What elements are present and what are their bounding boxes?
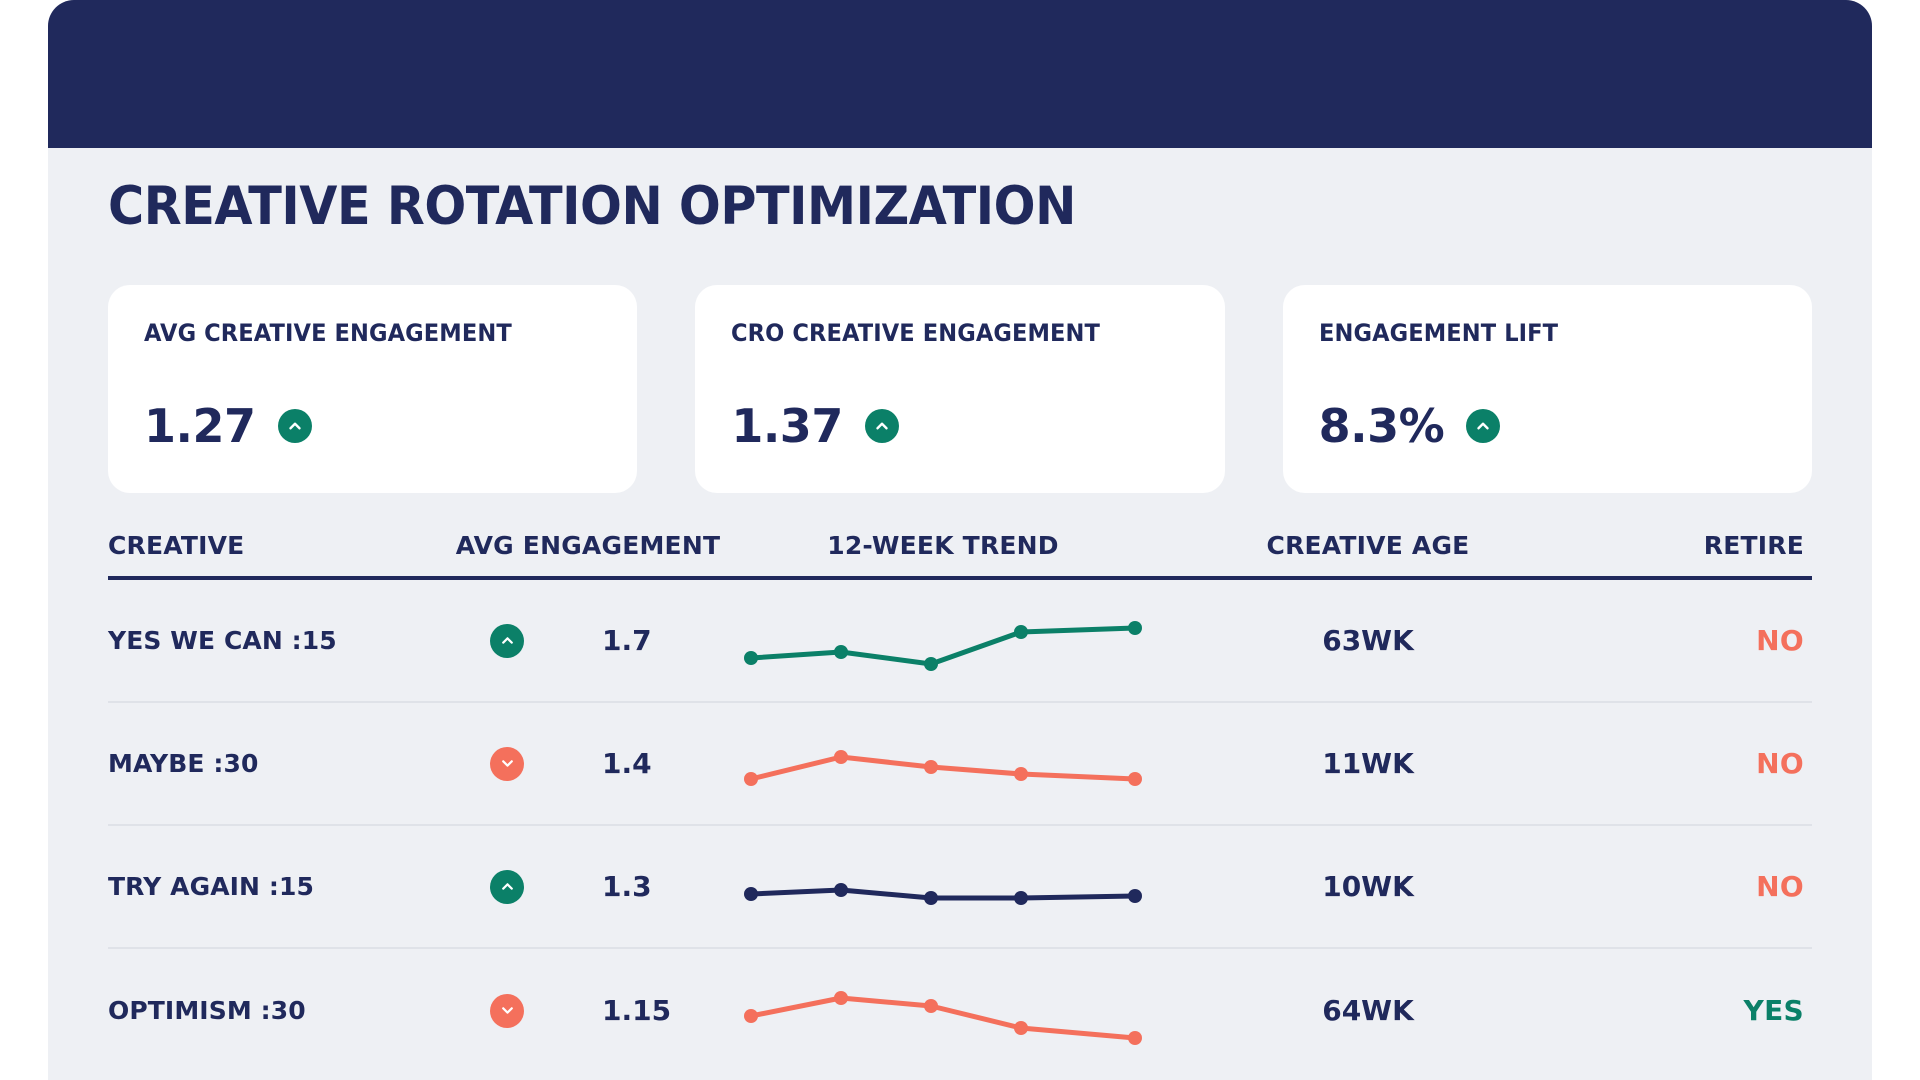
creative-age-value: 10WK (1158, 870, 1578, 903)
sparkline-chart (743, 729, 1143, 799)
table-row[interactable]: TRY AGAIN :15 1.3 (108, 826, 1812, 949)
sparkline-chart (743, 606, 1143, 676)
table-row[interactable]: MAYBE :30 1.4 (108, 703, 1812, 826)
chevron-up-icon (490, 624, 524, 658)
kpi-value-row: 8.3% (1319, 403, 1776, 459)
column-header-avg-engagement: AVG ENGAGEMENT (448, 531, 728, 560)
creative-rotation-table: CREATIVE AVG ENGAGEMENT 12-WEEK TREND CR… (108, 531, 1812, 1072)
column-header-12-week-trend: 12-WEEK TREND (728, 531, 1158, 560)
dashboard-content: CREATIVE ROTATION OPTIMIZATION AVG CREAT… (48, 148, 1872, 1080)
trend-sparkline-cell (728, 852, 1158, 922)
creative-age-value: 64WK (1158, 994, 1578, 1027)
avg-engagement-value: 1.4 (602, 747, 652, 780)
sparkline-chart (743, 976, 1143, 1046)
kpi-card-avg-creative-engagement[interactable]: AVG CREATIVE ENGAGEMENT 1.27 (108, 285, 637, 493)
avg-engagement-cell: 1.3 (448, 870, 728, 904)
creative-age-value: 11WK (1158, 747, 1578, 780)
trend-sparkline-cell (728, 606, 1158, 676)
creative-name: MAYBE :30 (108, 749, 448, 778)
chevron-down-icon (490, 747, 524, 781)
kpi-label: CRO CREATIVE ENGAGEMENT (731, 319, 1161, 347)
retire-status: NO (1578, 624, 1812, 657)
avg-engagement-cell: 1.7 (448, 624, 728, 658)
column-header-retire: RETIRE (1578, 531, 1812, 560)
retire-status: YES (1578, 994, 1812, 1027)
retire-status: NO (1578, 870, 1812, 903)
retire-status: NO (1578, 747, 1812, 780)
avg-engagement-value: 1.15 (602, 994, 671, 1027)
chevron-up-icon (1466, 409, 1500, 443)
chevron-down-icon (490, 994, 524, 1028)
sparkline-chart (743, 852, 1143, 922)
avg-engagement-cell: 1.4 (448, 747, 728, 781)
kpi-label: AVG CREATIVE ENGAGEMENT (144, 319, 574, 347)
kpi-card-cro-creative-engagement[interactable]: CRO CREATIVE ENGAGEMENT 1.37 (695, 285, 1224, 493)
avg-engagement-cell: 1.15 (448, 994, 728, 1028)
creative-name: OPTIMISM :30 (108, 996, 448, 1025)
creative-name: YES WE CAN :15 (108, 626, 448, 655)
column-header-creative: CREATIVE (108, 531, 448, 560)
table-row[interactable]: OPTIMISM :30 1.15 (108, 949, 1812, 1072)
avg-engagement-value: 1.3 (602, 870, 652, 903)
chevron-up-icon (490, 870, 524, 904)
kpi-value: 8.3% (1319, 403, 1445, 449)
dashboard-card: CREATIVE ROTATION OPTIMIZATION AVG CREAT… (48, 0, 1872, 1080)
trend-sparkline-cell (728, 976, 1158, 1046)
kpi-card-row: AVG CREATIVE ENGAGEMENT 1.27 CRO CREATIV… (108, 285, 1812, 493)
page-title: CREATIVE ROTATION OPTIMIZATION (108, 180, 1693, 233)
chevron-up-icon (278, 409, 312, 443)
table-row[interactable]: YES WE CAN :15 1.7 (108, 580, 1812, 703)
kpi-value: 1.27 (144, 403, 256, 449)
kpi-label: ENGAGEMENT LIFT (1319, 319, 1749, 347)
avg-engagement-value: 1.7 (602, 624, 652, 657)
kpi-value: 1.37 (731, 403, 843, 449)
kpi-card-engagement-lift[interactable]: ENGAGEMENT LIFT 8.3% (1283, 285, 1812, 493)
chevron-up-icon (865, 409, 899, 443)
creative-name: TRY AGAIN :15 (108, 872, 448, 901)
trend-sparkline-cell (728, 729, 1158, 799)
table-header-row: CREATIVE AVG ENGAGEMENT 12-WEEK TREND CR… (108, 531, 1812, 580)
header-bar (48, 0, 1872, 148)
creative-age-value: 63WK (1158, 624, 1578, 657)
column-header-creative-age: CREATIVE AGE (1158, 531, 1578, 560)
kpi-value-row: 1.37 (731, 403, 1188, 459)
kpi-value-row: 1.27 (144, 403, 601, 459)
